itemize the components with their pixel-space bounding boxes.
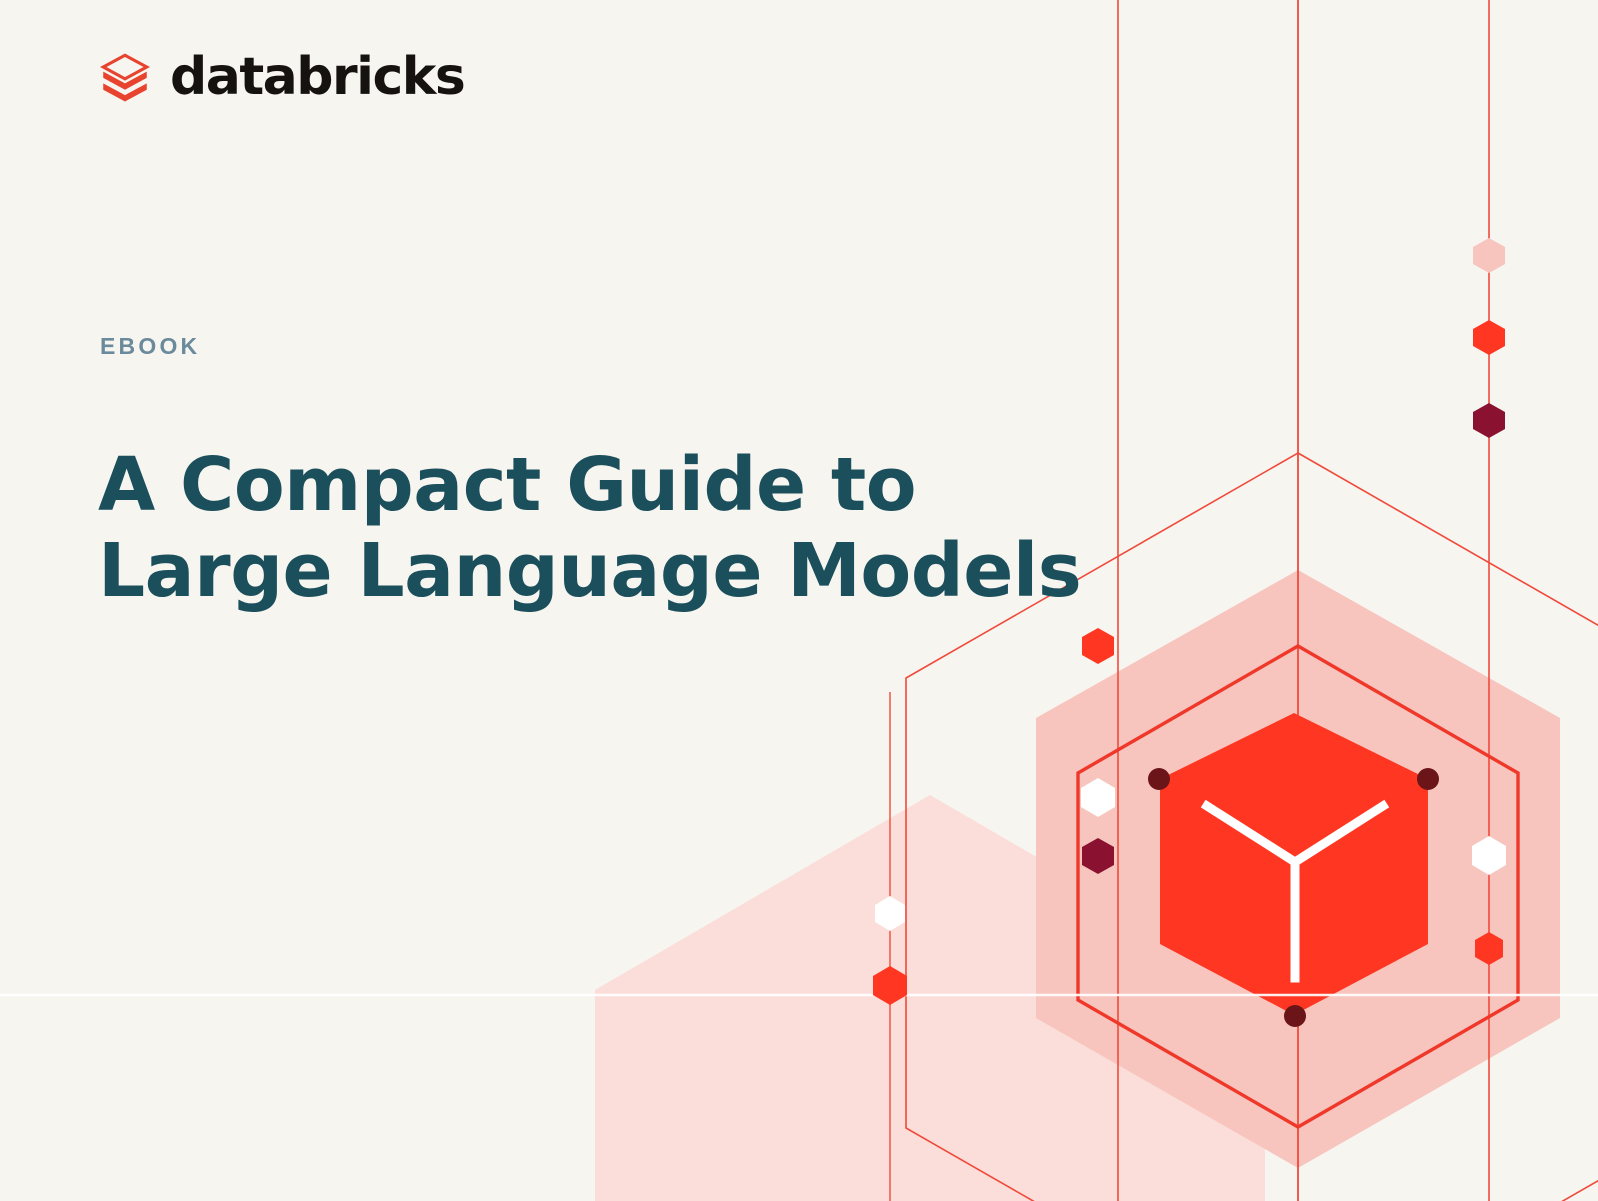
page-title: A Compact Guide to Large Language Models — [98, 442, 1148, 615]
databricks-wordmark: databricks — [170, 51, 464, 103]
eyebrow-label: EBOOK — [100, 335, 200, 358]
title-line-1: A Compact Guide to — [98, 442, 1148, 529]
databricks-stacked-layers-icon — [96, 48, 154, 106]
ebook-cover-page: databricks EBOOK A Compact Guide to Larg… — [0, 0, 1598, 1201]
title-line-2: Large Language Models — [98, 528, 1148, 615]
databricks-logo: databricks — [96, 48, 464, 106]
